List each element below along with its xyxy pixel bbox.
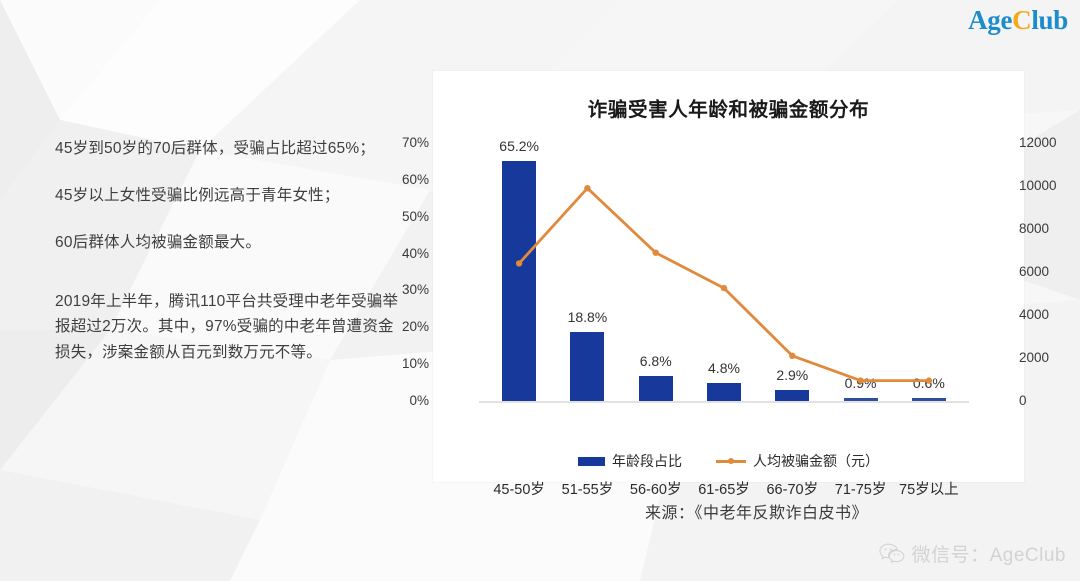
ageclub-logo: AgeClub — [968, 7, 1068, 34]
left-axis-tick: 70% — [381, 136, 429, 150]
chart-plot-area: 0%10%20%30%40%50%60%70% 0200040006000800… — [485, 143, 963, 401]
line-series-layer — [485, 143, 963, 401]
watermark-text: 微信号：AgeClub — [912, 540, 1066, 567]
right-axis-tick: 8000 — [1019, 222, 1079, 236]
x-tick-51-55岁: 51-55岁 — [553, 483, 621, 498]
chart-title: 诈骗受害人年龄和被骗金额分布 — [433, 93, 1024, 122]
left-axis-tick: 0% — [381, 394, 429, 408]
right-axis-tick: 4000 — [1019, 308, 1079, 322]
right-axis-tick: 10000 — [1019, 179, 1079, 193]
insight-paragraph-4: 2019年上半年，腾讯110平台共受理中老年受骗举报超过2万次。其中，97%受骗… — [55, 289, 407, 364]
legend-line-swatch-icon — [716, 457, 746, 466]
line-point-56-60岁[interactable] — [653, 250, 659, 256]
left-axis-tick: 60% — [381, 173, 429, 187]
right-axis-tick: 6000 — [1019, 265, 1079, 279]
left-axis-tick: 40% — [381, 247, 429, 261]
insight-paragraph-3: 60后群体人均被骗金额最大。 — [55, 230, 407, 255]
logo-text-c: C — [1012, 5, 1031, 35]
x-tick-45-50岁: 45-50岁 — [485, 483, 553, 498]
x-tick-66-70岁: 66-70岁 — [758, 483, 826, 498]
x-axis-line — [479, 401, 969, 403]
slide-canvas: AgeClub 45岁到50岁的70后群体，受骗占比超过65%； 45岁以上女性… — [0, 0, 1080, 581]
x-tick-56-60岁: 56-60岁 — [622, 483, 690, 498]
legend-bar-label: 年龄段占比 — [612, 451, 682, 471]
legend-line-label: 人均被骗金额（元） — [753, 451, 879, 471]
legend-item-line[interactable]: 人均被骗金额（元） — [716, 451, 879, 471]
logo-text-age: Age — [968, 5, 1012, 35]
line-point-66-70岁[interactable] — [789, 353, 795, 359]
right-axis-tick: 2000 — [1019, 351, 1079, 365]
line-point-61-65岁[interactable] — [721, 285, 727, 291]
line-point-45-50岁[interactable] — [516, 260, 522, 266]
legend-item-bar[interactable]: 年龄段占比 — [578, 451, 682, 471]
x-tick-75岁以上: 75岁以上 — [895, 483, 963, 498]
logo-text-lub: lub — [1031, 5, 1068, 35]
x-tick-71-75岁: 71-75岁 — [826, 483, 894, 498]
left-axis-tick: 20% — [381, 320, 429, 334]
chart-card: 诈骗受害人年龄和被骗金额分布 0%10%20%30%40%50%60%70% 0… — [433, 71, 1024, 482]
insight-paragraph-1: 45岁到50岁的70后群体，受骗占比超过65%； — [55, 136, 407, 161]
left-axis-tick: 50% — [381, 210, 429, 224]
chart-legend: 年龄段占比 人均被骗金额（元） — [433, 451, 1024, 471]
line-point-71-75岁[interactable] — [857, 377, 863, 383]
insight-text-block: 45岁到50岁的70后群体，受骗占比超过65%； 45岁以上女性受骗比例远高于青… — [55, 136, 407, 365]
insight-paragraph-2: 45岁以上女性受骗比例远高于青年女性； — [55, 183, 407, 208]
source-caption: 来源：《中老年反欺诈白皮书》 — [645, 499, 868, 523]
right-axis-tick: 12000 — [1019, 136, 1079, 150]
wechat-watermark: 微信号：AgeClub — [879, 540, 1066, 567]
legend-bar-swatch-icon — [578, 457, 605, 466]
wechat-icon — [879, 543, 905, 565]
right-axis-tick: 0 — [1019, 394, 1079, 408]
left-axis-tick: 10% — [381, 357, 429, 371]
line-path — [519, 188, 929, 380]
line-point-51-55岁[interactable] — [584, 185, 590, 191]
x-tick-61-65岁: 61-65岁 — [690, 483, 758, 498]
line-point-75岁以上[interactable] — [926, 377, 932, 383]
left-axis-tick: 30% — [381, 283, 429, 297]
